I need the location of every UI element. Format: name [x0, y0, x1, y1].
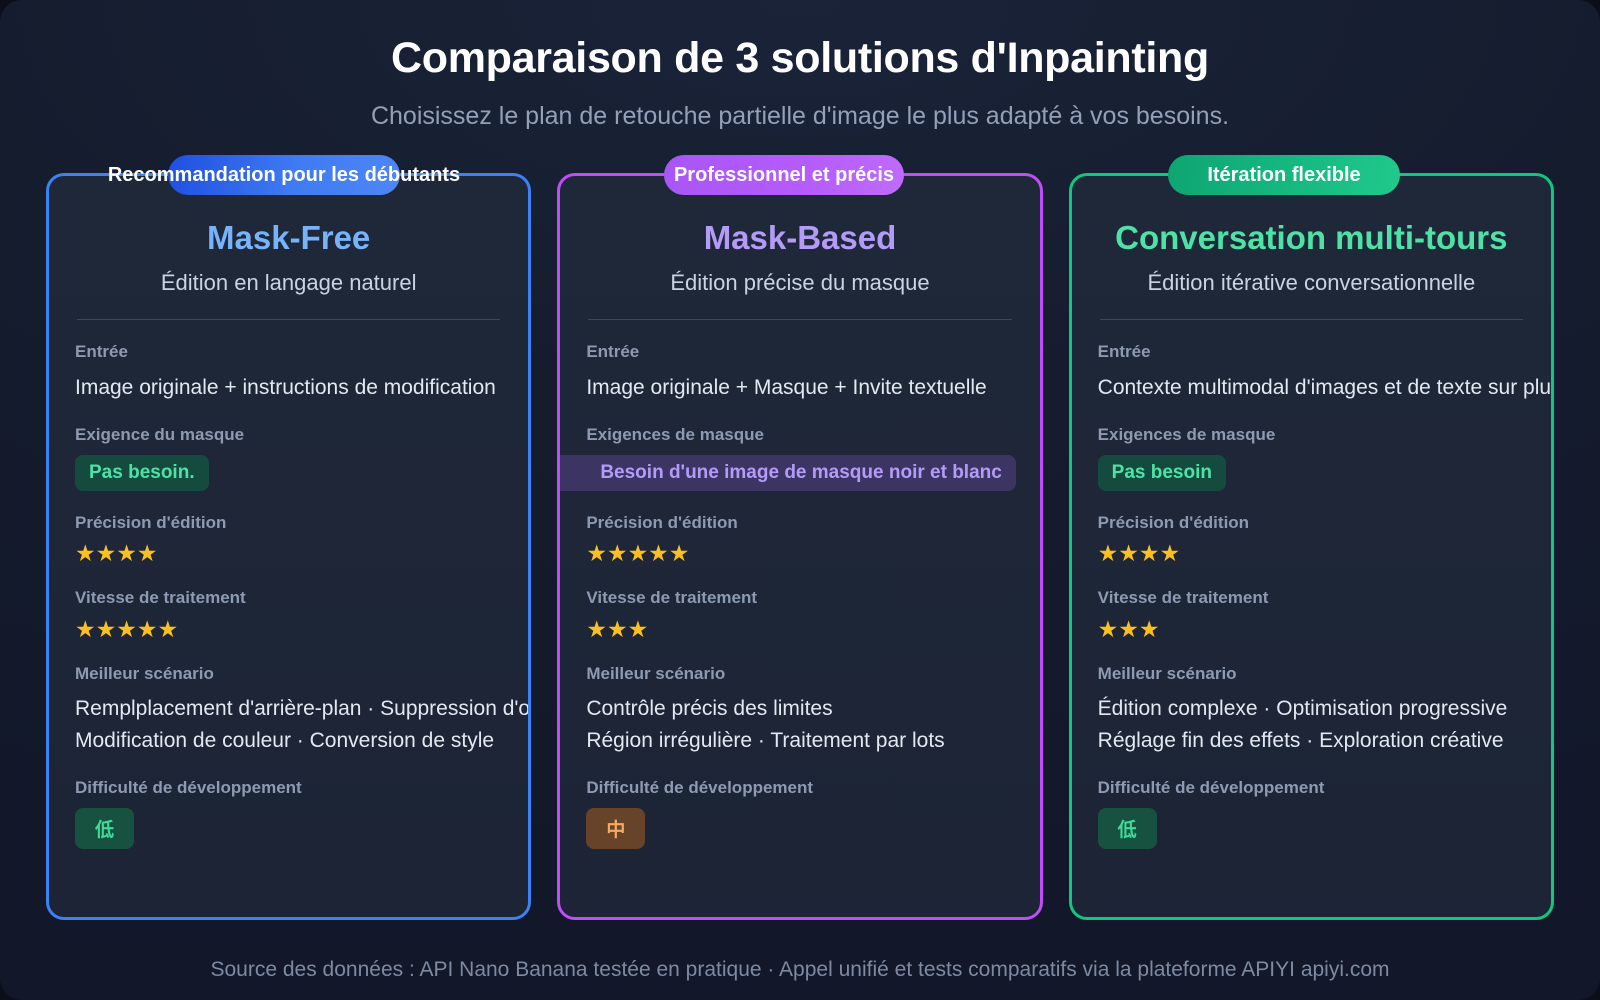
ribbon-badge-professional: Professionnel et précis [664, 155, 904, 195]
page-title: Comparaison de 3 solutions d'Inpainting [0, 34, 1600, 83]
spec-label-mask: Exigences de masque [586, 425, 1013, 445]
scenario-line-2: Modification de couleur · Conversion de … [75, 725, 502, 757]
plan-title: Conversation multi-tours [1098, 220, 1525, 256]
plan-title: Mask-Free [75, 220, 502, 256]
spec-value-input: Image originale + instructions de modifi… [75, 372, 502, 404]
spec-difficulty: Difficulté de développement 低 [75, 778, 502, 848]
spec-label-mask: Exigences de masque [1098, 425, 1525, 445]
spec-label-difficulty: Difficulté de développement [75, 778, 502, 798]
ribbon-label: Recommandation pour les débutants [108, 155, 460, 195]
spec-input: Entrée Image originale + Masque + Invite… [586, 342, 1013, 403]
divider [77, 319, 500, 320]
spec-speed: Vitesse de traitement ★★★★★ [75, 588, 502, 642]
ribbon-badge-flexible: Itération flexible [1168, 155, 1400, 195]
spec-label-speed: Vitesse de traitement [1098, 588, 1525, 608]
difficulty-badge: 低 [75, 808, 134, 849]
card-body: Mask-Based Édition précise du masque Ent… [560, 176, 1039, 849]
spec-label-scenario: Meilleur scénario [1098, 664, 1525, 684]
plan-card-mask-free[interactable]: Mask-Free Édition en langage naturel Ent… [46, 173, 531, 920]
card-body: Mask-Free Édition en langage naturel Ent… [49, 176, 528, 849]
precision-stars: ★★★★★ [586, 541, 1013, 566]
spec-precision: Précision d'édition ★★★★ [1098, 513, 1525, 567]
spec-difficulty: Difficulté de développement 低 [1098, 778, 1525, 848]
spec-label-precision: Précision d'édition [1098, 513, 1525, 533]
divider [588, 319, 1011, 320]
mask-requirement-badge: Pas besoin [1098, 455, 1226, 491]
speed-stars: ★★★★★ [75, 617, 502, 642]
spec-label-mask: Exigence du masque [75, 425, 502, 445]
spec-scenario: Meilleur scénario Contrôle précis des li… [586, 664, 1013, 756]
footer-source: Source des données : API Nano Banana tes… [0, 958, 1600, 982]
spec-value-input: Image originale + Masque + Invite textue… [586, 372, 1013, 404]
scenario-line-1: Contrôle précis des limites [586, 693, 1013, 725]
difficulty-badge: 中 [586, 808, 645, 849]
plan-tagline: Édition en langage naturel [75, 270, 502, 296]
spec-speed: Vitesse de traitement ★★★ [586, 588, 1013, 642]
plan-card-multi-turn[interactable]: Conversation multi-tours Édition itérati… [1069, 173, 1554, 920]
plan-title: Mask-Based [586, 220, 1013, 256]
spec-label-scenario: Meilleur scénario [75, 664, 502, 684]
precision-stars: ★★★★ [1098, 541, 1525, 566]
mask-requirement-badge: Besoin d'une image de masque noir et bla… [557, 455, 1016, 491]
page-subtitle: Choisissez le plan de retouche partielle… [0, 101, 1600, 131]
ribbon-badge-beginners: Recommandation pour les débutants [168, 155, 400, 195]
spec-input: Entrée Contexte multimodal d'images et d… [1098, 342, 1525, 403]
spec-label-speed: Vitesse de traitement [75, 588, 502, 608]
spec-scenario: Meilleur scénario Édition complexe · Opt… [1098, 664, 1525, 756]
spec-label-precision: Précision d'édition [75, 513, 502, 533]
speed-stars: ★★★ [1098, 617, 1525, 642]
plan-card-mask-based[interactable]: Mask-Based Édition précise du masque Ent… [557, 173, 1042, 920]
spec-value-scenario: Contrôle précis des limites Région irrég… [586, 693, 1013, 756]
plan-tagline: Édition itérative conversationnelle [1098, 270, 1525, 296]
spec-label-input: Entrée [586, 342, 1013, 362]
ribbon-label: Itération flexible [1207, 155, 1360, 195]
spec-mask: Exigences de masque Besoin d'une image d… [586, 425, 1013, 490]
spec-input: Entrée Image originale + instructions de… [75, 342, 502, 403]
spec-label-input: Entrée [75, 342, 502, 362]
plan-tagline: Édition précise du masque [586, 270, 1013, 296]
precision-stars: ★★★★ [75, 541, 502, 566]
difficulty-badge: 低 [1098, 808, 1157, 849]
spec-label-input: Entrée [1098, 342, 1525, 362]
spec-speed: Vitesse de traitement ★★★ [1098, 588, 1525, 642]
spec-value-scenario: Édition complexe · Optimisation progress… [1098, 693, 1525, 756]
mask-requirement-badge: Pas besoin. [75, 455, 209, 491]
spec-scenario: Meilleur scénario Remplplacement d'arriè… [75, 664, 502, 756]
comparison-infographic: Comparaison de 3 solutions d'Inpainting … [0, 0, 1600, 1000]
spec-value-input: Contexte multimodal d'images et de texte… [1098, 372, 1525, 404]
header: Comparaison de 3 solutions d'Inpainting … [0, 0, 1600, 131]
spec-precision: Précision d'édition ★★★★ [75, 513, 502, 567]
spec-value-scenario: Remplplacement d'arrière-plan · Suppress… [75, 693, 502, 756]
scenario-line-2: Réglage fin des effets · Exploration cré… [1098, 725, 1525, 757]
divider [1100, 319, 1523, 320]
spec-mask: Exigences de masque Pas besoin [1098, 425, 1525, 490]
scenario-line-2: Région irrégulière · Traitement par lots [586, 725, 1013, 757]
spec-mask: Exigence du masque Pas besoin. [75, 425, 502, 490]
spec-label-difficulty: Difficulté de développement [586, 778, 1013, 798]
speed-stars: ★★★ [586, 617, 1013, 642]
scenario-line-1: Remplplacement d'arrière-plan · Suppress… [75, 693, 502, 725]
plan-cards-row: Mask-Free Édition en langage naturel Ent… [46, 173, 1554, 920]
spec-label-precision: Précision d'édition [586, 513, 1013, 533]
scenario-line-1: Édition complexe · Optimisation progress… [1098, 693, 1525, 725]
spec-difficulty: Difficulté de développement 中 [586, 778, 1013, 848]
spec-label-speed: Vitesse de traitement [586, 588, 1013, 608]
spec-label-scenario: Meilleur scénario [586, 664, 1013, 684]
card-body: Conversation multi-tours Édition itérati… [1072, 176, 1551, 849]
spec-precision: Précision d'édition ★★★★★ [586, 513, 1013, 567]
ribbon-label: Professionnel et précis [674, 155, 894, 195]
spec-label-difficulty: Difficulté de développement [1098, 778, 1525, 798]
